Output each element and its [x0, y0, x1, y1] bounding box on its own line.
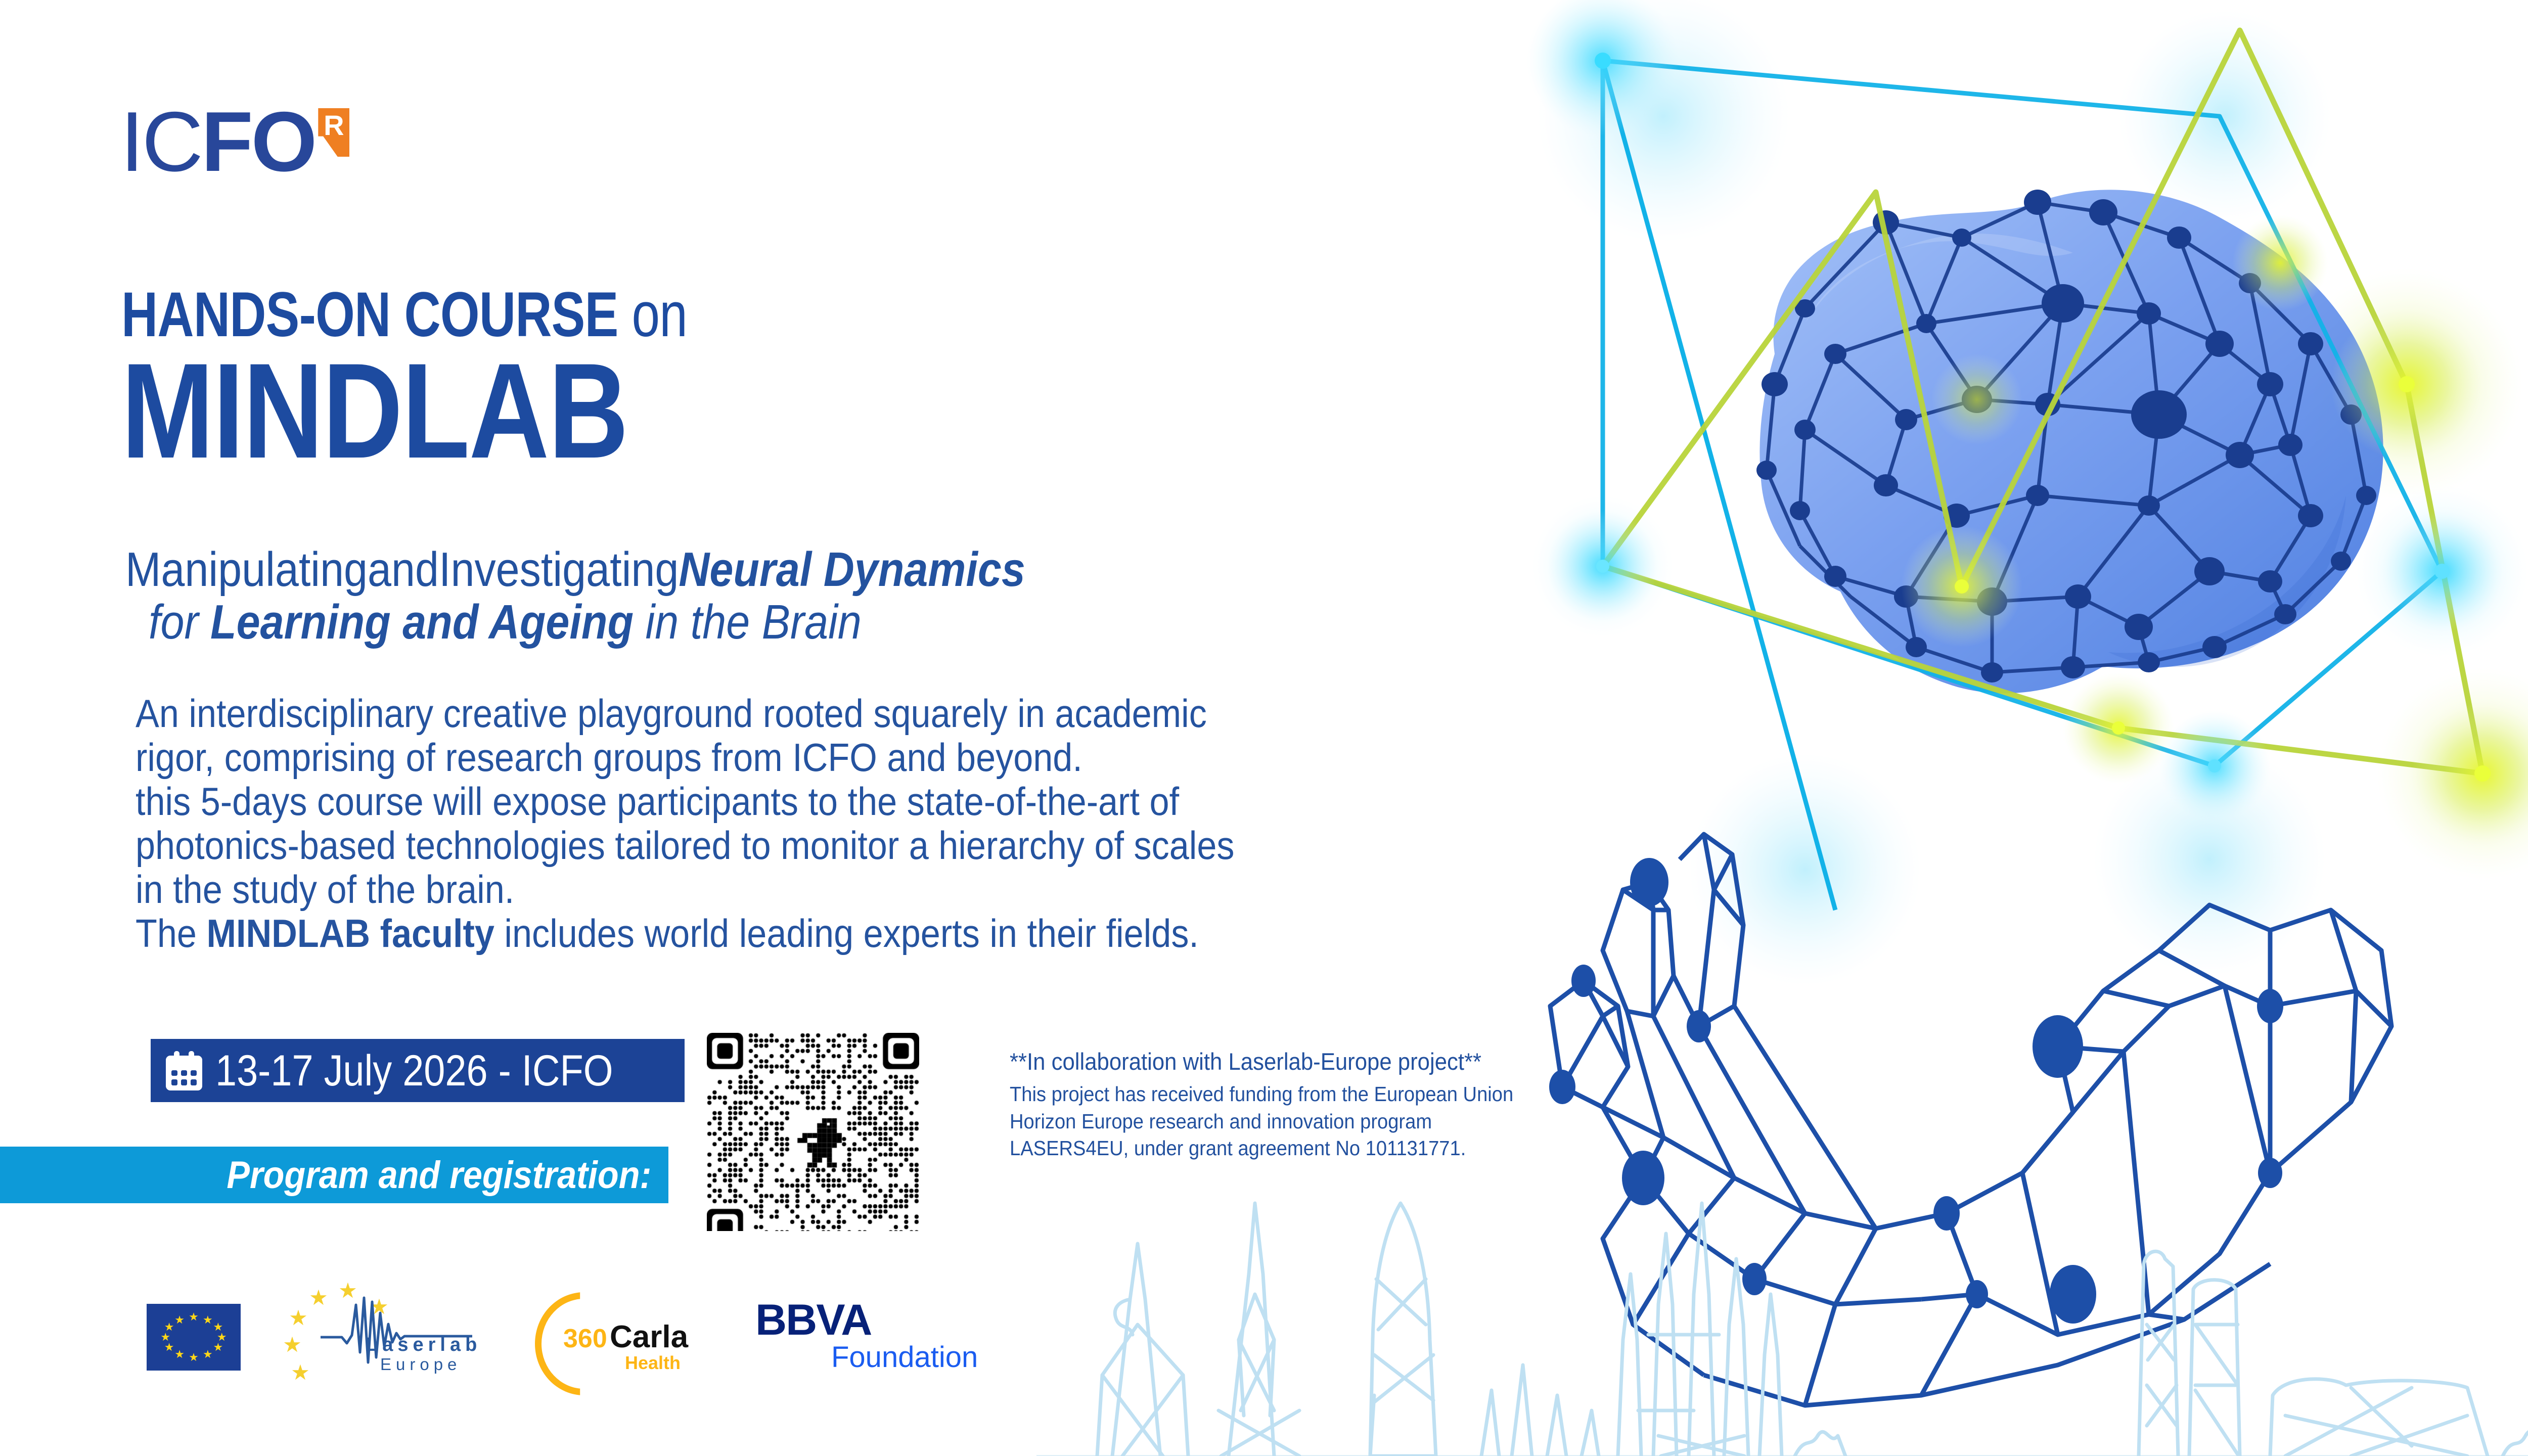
qr-code[interactable]: [707, 1033, 919, 1231]
glow-nodes: [1527, 0, 2528, 844]
laserlab-europe-logo: ★★★★★★ Laserlab Europe: [272, 1287, 489, 1388]
ambient-glows: [1532, 0, 2528, 986]
body-copy: An interdisciplinary creative playground…: [136, 692, 1602, 955]
subtitle-line-1: ManipulatingandInvestigatingNeural Dynam…: [125, 543, 1327, 596]
hand-nodes: [1549, 858, 2283, 1324]
brain-network-nodes: [1756, 190, 2376, 682]
body-line: this 5-days course will expose participa…: [136, 780, 1455, 824]
eu-star: ★: [160, 1332, 170, 1343]
footer-logos: ★★★★★★★★★★★★ ★★★★★★ Laserlab Europe 360 …: [147, 1279, 978, 1395]
registration-label: Program and registration:: [227, 1153, 651, 1197]
carla-health-logo: 360 Carla Health: [535, 1289, 712, 1385]
calendar-icon: [166, 1051, 202, 1090]
date-badge[interactable]: 13-17 July 2026 - ICFO: [151, 1039, 685, 1102]
eu-star: ★: [164, 1342, 174, 1353]
brain-network-edges: [1767, 202, 2366, 672]
body-line: rigor, comprising of research groups fro…: [136, 736, 1455, 780]
date-badge-text: 13-17 July 2026 - ICFO: [215, 1049, 613, 1093]
eu-star: ★: [174, 1349, 185, 1360]
barcelona-skyline: [1036, 1173, 2528, 1456]
lime-accent-lines: [1603, 30, 2482, 773]
laserlab-wordmark: Laserlab Europe: [366, 1335, 481, 1374]
eu-star: ★: [164, 1322, 174, 1333]
poster-root: ICFO R HANDS-ON COURSE on MINDLAB Manipu…: [0, 0, 2528, 1456]
icfo-r-badge: R: [318, 108, 349, 157]
eu-star: ★: [189, 1352, 199, 1363]
subtitle: ManipulatingandInvestigatingNeural Dynam…: [125, 543, 1491, 648]
european-union-flag: ★★★★★★★★★★★★: [147, 1304, 241, 1371]
body-line-faculty: The MINDLAB faculty includes world leadi…: [136, 912, 1455, 955]
eu-star: ★: [213, 1342, 223, 1353]
collaboration-note: **In collaboration with Laserlab-Europe …: [1010, 1048, 1564, 1075]
laserlab-star: ★: [289, 1307, 308, 1329]
icfo-logo[interactable]: ICFO R: [120, 106, 349, 167]
icfo-wordmark: ICFO: [120, 106, 315, 177]
laserlab-star: ★: [291, 1362, 310, 1383]
brain-shape: [1759, 190, 2383, 693]
cyan-accent-lines: [1603, 61, 2442, 910]
funding-line: Horizon Europe research and innovation p…: [1010, 1108, 1564, 1135]
funding-acknowledgement: **In collaboration with Laserlab-Europe …: [1010, 1048, 1606, 1162]
headline-line-2: MINDLAB: [121, 348, 1241, 473]
eu-star: ★: [203, 1349, 213, 1360]
registration-banner[interactable]: Program and registration:: [0, 1147, 668, 1203]
body-line: photonics-based technologies tailored to…: [136, 824, 1455, 868]
eu-star: ★: [174, 1314, 185, 1326]
body-line: An interdisciplinary creative playground…: [136, 692, 1455, 736]
eu-star: ★: [203, 1314, 213, 1326]
body-line: in the study of the brain.: [136, 868, 1455, 912]
brain-hand-artwork: [1451, 0, 2528, 1456]
laserlab-star: ★: [283, 1334, 302, 1355]
bbva-foundation-logo: BBVA Foundation: [755, 1289, 978, 1385]
subtitle-line-2: for Learning and Ageing in the Brain: [149, 596, 1330, 649]
funding-line: This project has received funding from t…: [1010, 1081, 1564, 1108]
page-title: HANDS-ON COURSE on MINDLAB: [121, 283, 1486, 473]
funding-line: LASERS4EU, under grant agreement No 1011…: [1010, 1135, 1564, 1162]
wireframe-hand: [1550, 834, 2391, 1405]
eu-star: ★: [189, 1311, 199, 1323]
